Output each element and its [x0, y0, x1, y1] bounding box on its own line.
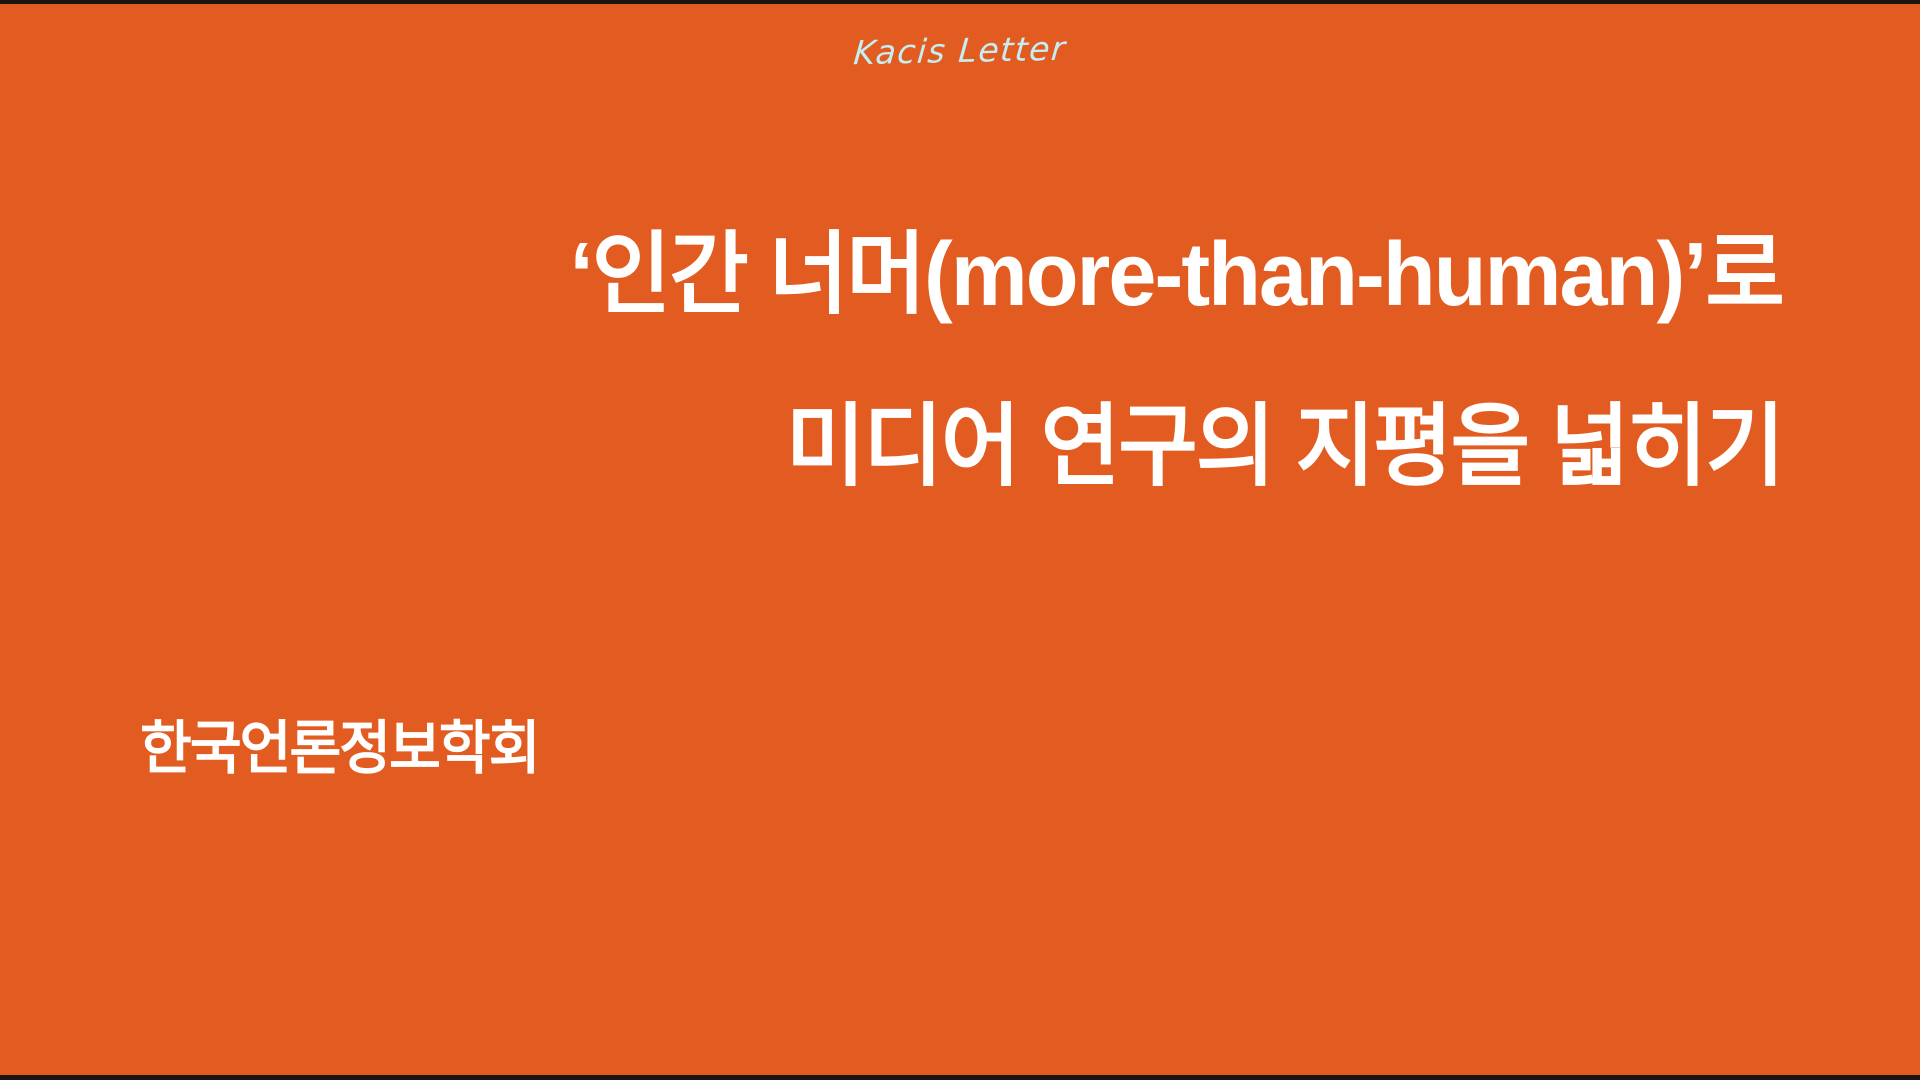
organization-name: 한국언론정보학회 — [140, 720, 539, 778]
slide-canvas: Kacis Letter ‘인간 너머(more-than-human)’로 미… — [0, 0, 1920, 1080]
slide-title-line-2: 미디어 연구의 지평을 넓히기 — [71, 372, 1783, 522]
publication-brand-title: Kacis Letter — [0, 14, 1920, 87]
slide-title-line-1: ‘인간 너머(more-than-human)’로 — [71, 200, 1783, 350]
slide-title-block: ‘인간 너머(more-than-human)’로 미디어 연구의 지평을 넓히… — [0, 200, 1783, 522]
